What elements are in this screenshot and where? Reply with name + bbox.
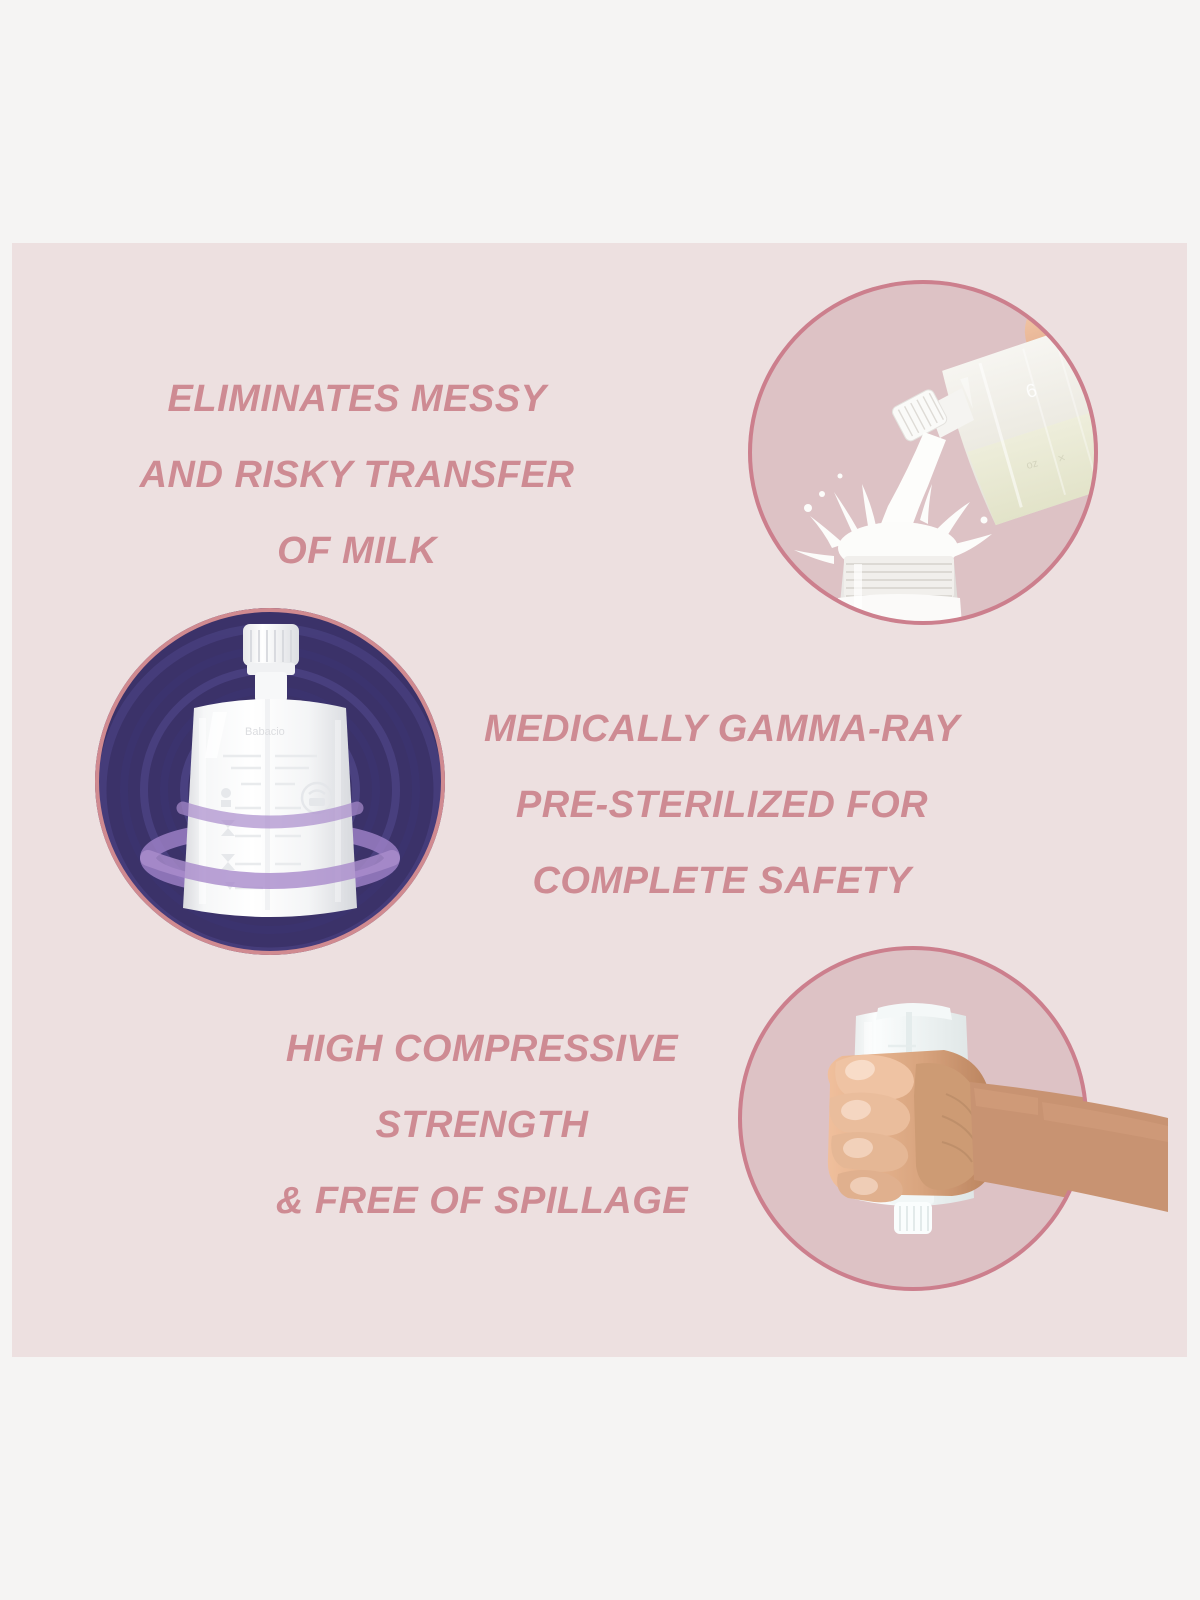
- feature-line: PRE-STERILIZED FOR: [452, 767, 992, 843]
- feature-text-compressive-strength: HIGH COMPRESSIVE STRENGTH & FREE OF SPIL…: [222, 1011, 742, 1239]
- feature-line: AND RISKY TRANSFER: [12, 437, 702, 513]
- squeeze-artwork-inner: Babacio: [738, 946, 1088, 1291]
- feature-line: MEDICALLY GAMMA-RAY: [452, 691, 992, 767]
- illustration-pour-milk: 6 oz ×: [748, 280, 1098, 625]
- feature-line: ELIMINATES MESSY: [12, 361, 702, 437]
- pour-milk-artwork: 6 oz ×: [748, 280, 1098, 625]
- illustration-squeeze-pouch: Babacio: [738, 946, 1088, 1291]
- hand-fist: [828, 1050, 994, 1202]
- feature-text-gamma-sterilized: MEDICALLY GAMMA-RAY PRE-STERILIZED FOR C…: [452, 691, 992, 919]
- illustration-gamma-sterilized: Babacio: [95, 608, 445, 955]
- feature-line: HIGH COMPRESSIVE: [222, 1011, 742, 1087]
- feature-line: OF MILK: [12, 513, 702, 589]
- feature-text-eliminates: ELIMINATES MESSY AND RISKY TRANSFER OF M…: [12, 361, 702, 589]
- baby-bottle: [836, 556, 962, 625]
- feature-line: STRENGTH: [222, 1087, 742, 1163]
- content-panel: 6 oz ×: [12, 243, 1187, 1357]
- feature-line: & FREE OF SPILLAGE: [222, 1163, 742, 1239]
- pouch-brand-text: Babacio: [245, 726, 285, 738]
- gamma-ray-artwork: Babacio: [95, 608, 445, 955]
- infographic-canvas: 6 oz ×: [0, 0, 1200, 1600]
- feature-line: COMPLETE SAFETY: [452, 843, 992, 919]
